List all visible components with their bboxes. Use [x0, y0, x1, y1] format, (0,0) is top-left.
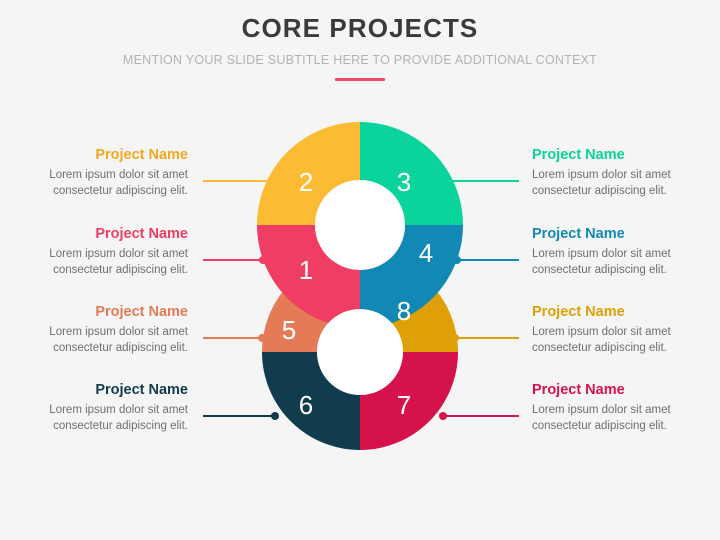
project-description-6: Lorem ipsum dolor sit amet consectetur a… [13, 403, 188, 434]
project-title-6: Project Name [13, 381, 188, 399]
project-title-7: Project Name [532, 381, 707, 399]
project-description-5: Lorem ipsum dolor sit amet consectetur a… [13, 325, 188, 356]
project-item-5[interactable]: Project NameLorem ipsum dolor sit amet c… [13, 303, 188, 356]
project-description-2: Lorem ipsum dolor sit amet consectetur a… [13, 168, 188, 199]
project-title-5: Project Name [13, 303, 188, 321]
segment-number-2: 2 [299, 167, 313, 197]
hub-lower-ring [317, 309, 403, 395]
segment-number-7: 7 [397, 390, 411, 420]
project-item-2[interactable]: Project NameLorem ipsum dolor sit amet c… [13, 146, 188, 199]
project-description-8: Lorem ipsum dolor sit amet consectetur a… [532, 325, 707, 356]
segment-number-6: 6 [299, 390, 313, 420]
project-title-3: Project Name [532, 146, 707, 164]
project-title-2: Project Name [13, 146, 188, 164]
project-description-4: Lorem ipsum dolor sit amet consectetur a… [532, 247, 707, 278]
project-description-7: Lorem ipsum dolor sit amet consectetur a… [532, 403, 707, 434]
project-title-8: Project Name [532, 303, 707, 321]
project-item-4[interactable]: Project NameLorem ipsum dolor sit amet c… [532, 225, 707, 278]
project-item-7[interactable]: Project NameLorem ipsum dolor sit amet c… [532, 381, 707, 434]
project-description-3: Lorem ipsum dolor sit amet consectetur a… [532, 168, 707, 199]
slide: CORE PROJECTS MENTION YOUR SLIDE SUBTITL… [0, 0, 720, 540]
project-title-4: Project Name [532, 225, 707, 243]
project-description-1: Lorem ipsum dolor sit amet consectetur a… [13, 247, 188, 278]
segment-number-1: 1 [299, 255, 313, 285]
project-item-6[interactable]: Project NameLorem ipsum dolor sit amet c… [13, 381, 188, 434]
project-item-1[interactable]: Project NameLorem ipsum dolor sit amet c… [13, 225, 188, 278]
project-item-3[interactable]: Project NameLorem ipsum dolor sit amet c… [532, 146, 707, 199]
segment-number-5: 5 [282, 315, 296, 345]
segment-number-8: 8 [397, 296, 411, 326]
hub-upper-ring [315, 180, 405, 270]
project-title-1: Project Name [13, 225, 188, 243]
project-item-8[interactable]: Project NameLorem ipsum dolor sit amet c… [532, 303, 707, 356]
segment-number-4: 4 [419, 238, 433, 268]
segment-number-3: 3 [397, 167, 411, 197]
